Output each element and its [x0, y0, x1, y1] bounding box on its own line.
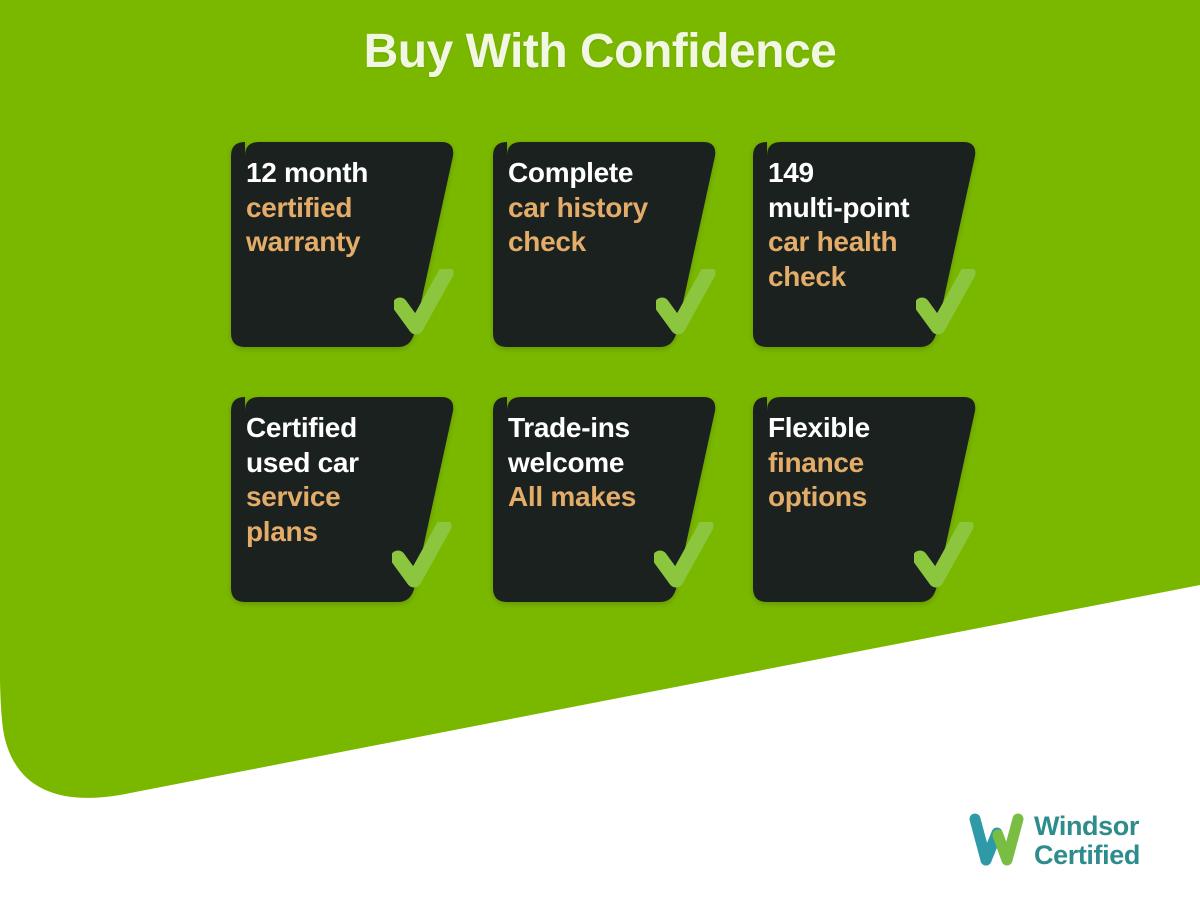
windsor-w-icon — [968, 813, 1026, 869]
logo-line-1: Windsor — [1034, 812, 1140, 841]
green-check-icon — [654, 522, 714, 588]
card-text: 12 month certified warranty — [246, 156, 454, 260]
card-line-white: Flexible — [768, 411, 976, 446]
card-line-white: 149 — [768, 156, 976, 191]
card-line-gold: service — [246, 480, 454, 515]
feature-card-row: Certified used car service plans Trade-i… — [228, 397, 978, 652]
card-line-gold: certified — [246, 191, 454, 226]
card-text: Trade-ins welcome All makes — [508, 411, 716, 515]
feature-card-car-health-check[interactable]: 149 multi-point car health check — [750, 142, 1000, 347]
logo-line-2: Certified — [1034, 841, 1140, 870]
card-line-gold: car history — [508, 191, 716, 226]
feature-card-service-plans[interactable]: Certified used car service plans — [228, 397, 478, 602]
slide-canvas: Buy With Confidence 12 month certified w… — [0, 0, 1200, 900]
feature-card-grid: 12 month certified warranty Complete car… — [228, 142, 978, 652]
card-line-gold: check — [508, 225, 716, 260]
card-line-gold: finance — [768, 446, 976, 481]
windsor-certified-logo[interactable]: Windsor Certified — [968, 812, 1140, 870]
feature-card-trade-ins[interactable]: Trade-ins welcome All makes — [490, 397, 740, 602]
card-line-white: Certified — [246, 411, 454, 446]
card-line-white: Trade-ins — [508, 411, 716, 446]
card-line-white: multi-point — [768, 191, 976, 226]
feature-card-certified-warranty[interactable]: 12 month certified warranty — [228, 142, 478, 347]
card-line-gold: car health — [768, 225, 976, 260]
card-line-white: used car — [246, 446, 454, 481]
card-line-gold: All makes — [508, 480, 716, 515]
card-line-white: Complete — [508, 156, 716, 191]
card-line-white: welcome — [508, 446, 716, 481]
card-text: Complete car history check — [508, 156, 716, 260]
card-line-white: 12 month — [246, 156, 454, 191]
card-line-gold: warranty — [246, 225, 454, 260]
card-text: Flexible finance options — [768, 411, 976, 515]
green-check-icon — [656, 269, 716, 335]
logo-wordmark: Windsor Certified — [1034, 812, 1140, 870]
page-title: Buy With Confidence — [0, 24, 1200, 79]
green-check-icon — [394, 269, 454, 335]
feature-card-car-history-check[interactable]: Complete car history check — [490, 142, 740, 347]
green-check-icon — [914, 522, 974, 588]
feature-card-finance-options[interactable]: Flexible finance options — [750, 397, 1000, 602]
feature-card-row: 12 month certified warranty Complete car… — [228, 142, 978, 397]
green-check-icon — [392, 522, 452, 588]
card-line-gold: options — [768, 480, 976, 515]
green-check-icon — [916, 269, 976, 335]
